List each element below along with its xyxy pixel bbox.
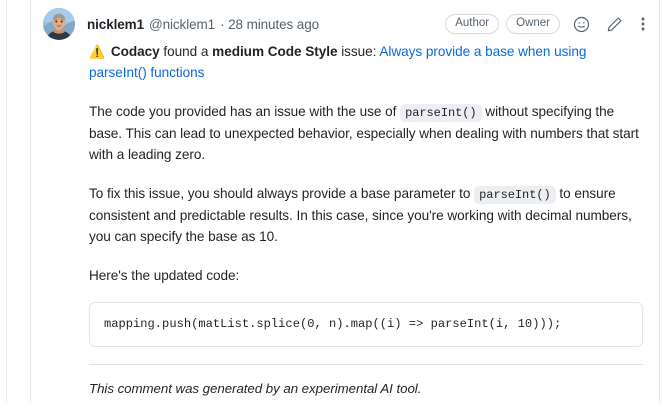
inline-code-parseint-1: parseInt() [400, 104, 482, 122]
comment-author-name[interactable]: nicklem1 [87, 17, 144, 32]
timestamp-value: 28 minutes ago [228, 17, 319, 32]
status-badge-author: Author [445, 14, 499, 35]
add-reaction-icon[interactable] [569, 12, 593, 36]
warning-icon: ⚠️ [89, 44, 105, 59]
paragraph-2: To fix this issue, you should always pro… [89, 183, 643, 247]
comment-author-handle[interactable]: @nicklem1 [149, 17, 215, 32]
status-badge-owner: Owner [506, 14, 560, 35]
ai-generated-note: This comment was generated by an experim… [89, 379, 643, 400]
footer-divider [89, 364, 643, 365]
code-block-content[interactable]: mapping.push(matList.splice(0, n).map((i… [104, 316, 628, 333]
paragraph-2-part-1: To fix this issue, you should always pro… [89, 186, 474, 201]
issue-tool-name: Codacy [111, 44, 160, 59]
kebab-menu-icon[interactable] [636, 12, 650, 36]
issue-word: issue: [337, 44, 379, 59]
inline-code-parseint-2: parseInt() [474, 186, 556, 204]
timestamp-separator: · [220, 17, 224, 32]
avatar[interactable] [43, 8, 75, 40]
paragraph-3: Here's the updated code: [89, 265, 643, 286]
comment-timestamp[interactable]: · 28 minutes ago [220, 17, 319, 32]
comment-body: ⚠️ Codacy found a medium Code Style issu… [89, 41, 643, 399]
issue-summary-line: ⚠️ Codacy found a medium Code Style issu… [89, 41, 643, 83]
paragraph-1-part-1: The code you provided has an issue with … [89, 104, 400, 119]
edit-icon[interactable] [602, 12, 626, 36]
paragraph-1: The code you provided has an issue with … [89, 101, 643, 165]
issue-severity: medium Code Style [212, 44, 337, 59]
code-block: mapping.push(matList.splice(0, n).map((i… [89, 302, 643, 347]
comment-card: nicklem1 @nicklem1 · 28 minutes ago Auth… [31, 0, 660, 403]
issue-found-text: found a [160, 44, 212, 59]
thread-rail-outer [6, 0, 7, 403]
